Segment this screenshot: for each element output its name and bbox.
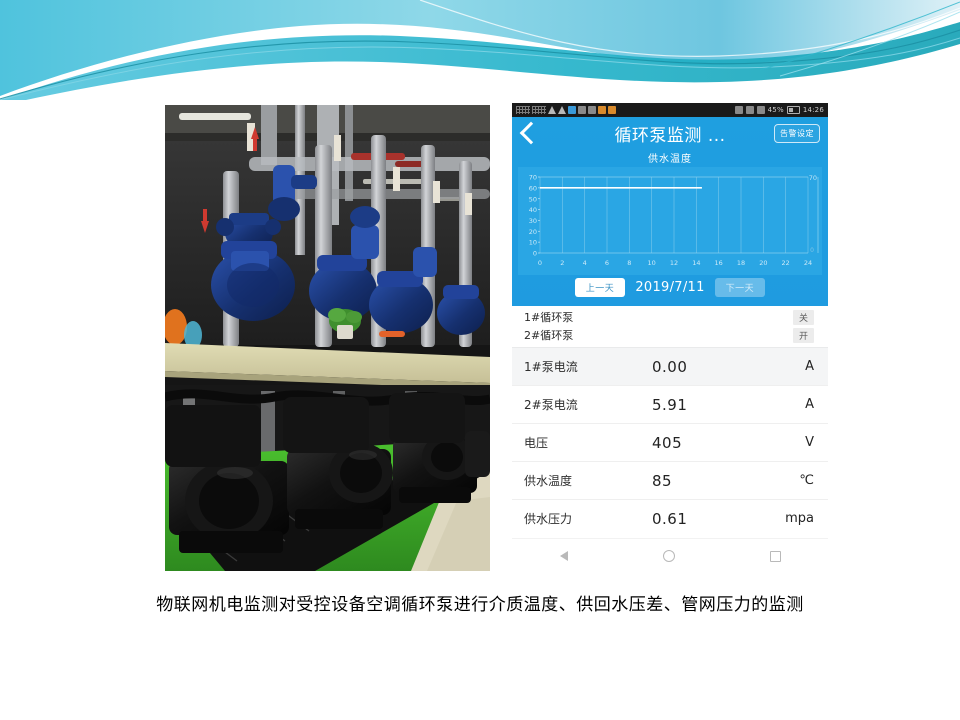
measurement-value: 5.91 (634, 396, 778, 414)
svg-text:0: 0 (533, 250, 537, 258)
pump-status-row: 1#循环泵关 (512, 308, 828, 326)
pump-status-list: 1#循环泵关2#循环泵开 (512, 306, 828, 347)
pump-status-badge: 开 (793, 328, 814, 343)
measurement-unit: ℃ (778, 473, 814, 488)
svg-text:2: 2 (560, 259, 564, 267)
nav-recents-icon[interactable] (770, 551, 781, 562)
slide-caption: 物联网机电监测对受控设备空调循环泵进行介质温度、供回水压差、管网压力的监测 (0, 590, 960, 615)
measurement-label: 1#泵电流 (524, 358, 634, 375)
measurement-unit: A (778, 397, 814, 412)
chart-svg: 706050403020100 024681012141618202224 70… (518, 167, 822, 275)
measurement-label: 供水压力 (524, 510, 634, 527)
app-notification-icon-2 (608, 106, 616, 114)
svg-text:12: 12 (670, 259, 678, 267)
svg-text:6: 6 (605, 259, 609, 267)
next-day-button[interactable]: 下一天 (715, 278, 766, 297)
current-date-label: 2019/7/11 (635, 280, 704, 295)
svg-text:20: 20 (529, 228, 537, 236)
battery-percent-label: 45% (768, 106, 784, 114)
measurement-label: 供水温度 (524, 472, 634, 489)
measurement-label: 电压 (524, 434, 634, 451)
svg-text:20: 20 (759, 259, 767, 267)
measurement-label: 2#泵电流 (524, 396, 634, 413)
svg-text:0: 0 (810, 247, 814, 254)
svg-text:40: 40 (529, 206, 537, 214)
measurement-row: 2#泵电流5.91A (512, 385, 828, 423)
app-header-bar: 循环泵监测 ... 告警设定 (512, 117, 828, 149)
status-left-icons (516, 106, 616, 114)
back-icon[interactable] (520, 122, 543, 145)
measurement-row: 电压405V (512, 423, 828, 461)
svg-text:10: 10 (529, 239, 537, 247)
svg-text:18: 18 (737, 259, 745, 267)
prev-day-button[interactable]: 上一天 (575, 278, 626, 297)
vibrate-icon (746, 106, 754, 114)
mechanical-room-photo (165, 105, 490, 571)
signal-dots-icon-2 (532, 106, 546, 114)
svg-text:30: 30 (529, 217, 537, 225)
svg-text:4: 4 (583, 259, 587, 267)
pump-status-row: 2#循环泵开 (512, 326, 828, 344)
svg-text:8: 8 (627, 259, 631, 267)
measurement-value: 0.61 (634, 510, 778, 528)
app-blue-panel: 循环泵监测 ... 告警设定 供水温度 706050403020100 0246… (512, 117, 828, 306)
alarm-settings-button[interactable]: 告警设定 (774, 124, 820, 143)
measurement-list: 1#泵电流0.00A2#泵电流5.91A电压405V供水温度85℃供水压力0.6… (512, 347, 828, 537)
measurement-unit: A (778, 359, 814, 374)
measurement-row: 供水压力0.61mpa (512, 499, 828, 537)
wifi-icon (568, 106, 576, 114)
date-navigation-row: 上一天 2019/7/11 下一天 (512, 275, 828, 302)
signal-dots-icon (516, 106, 530, 114)
svg-text:60: 60 (529, 184, 537, 192)
svg-text:70: 70 (529, 174, 537, 182)
nav-home-icon[interactable] (663, 550, 675, 562)
message-icon (588, 106, 596, 114)
nav-back-icon[interactable] (560, 551, 568, 561)
measurement-value: 405 (634, 434, 778, 452)
app-notification-icon (598, 106, 606, 114)
chart-title: 供水温度 (512, 150, 828, 165)
measurement-row: 供水温度85℃ (512, 461, 828, 499)
svg-text:0: 0 (538, 259, 542, 267)
eye-icon (735, 106, 743, 114)
measurement-unit: V (778, 435, 814, 450)
link-icon (578, 106, 586, 114)
pump-status-label: 1#循环泵 (524, 309, 573, 325)
android-status-bar: 45% 14:26 (512, 103, 828, 117)
measurement-value: 0.00 (634, 358, 778, 376)
signal-bars-icon (548, 106, 556, 114)
measurement-unit: mpa (778, 511, 814, 526)
slide-banner (0, 0, 960, 100)
measurement-row: 1#泵电流0.00A (512, 347, 828, 385)
svg-text:24: 24 (804, 259, 812, 267)
android-nav-bar (512, 538, 828, 573)
pump-status-badge: 关 (793, 310, 814, 325)
supply-temperature-chart: 706050403020100 024681012141618202224 70… (512, 167, 828, 275)
svg-text:70: 70 (809, 174, 817, 182)
svg-text:50: 50 (529, 195, 537, 203)
svg-text:10: 10 (648, 259, 656, 267)
alarm-icon (757, 106, 765, 114)
status-right-icons: 45% 14:26 (735, 106, 824, 114)
pump-status-label: 2#循环泵 (524, 327, 573, 343)
battery-icon (787, 106, 800, 114)
signal-bars-icon-2 (558, 106, 566, 114)
status-clock: 14:26 (803, 106, 824, 114)
phone-app-screenshot: 45% 14:26 循环泵监测 ... 告警设定 供水温度 7060504030… (512, 103, 828, 573)
measurement-value: 85 (634, 472, 778, 490)
svg-text:14: 14 (692, 259, 700, 267)
svg-text:22: 22 (782, 259, 790, 267)
slide-content: 45% 14:26 循环泵监测 ... 告警设定 供水温度 7060504030… (0, 100, 960, 720)
svg-text:16: 16 (715, 259, 723, 267)
